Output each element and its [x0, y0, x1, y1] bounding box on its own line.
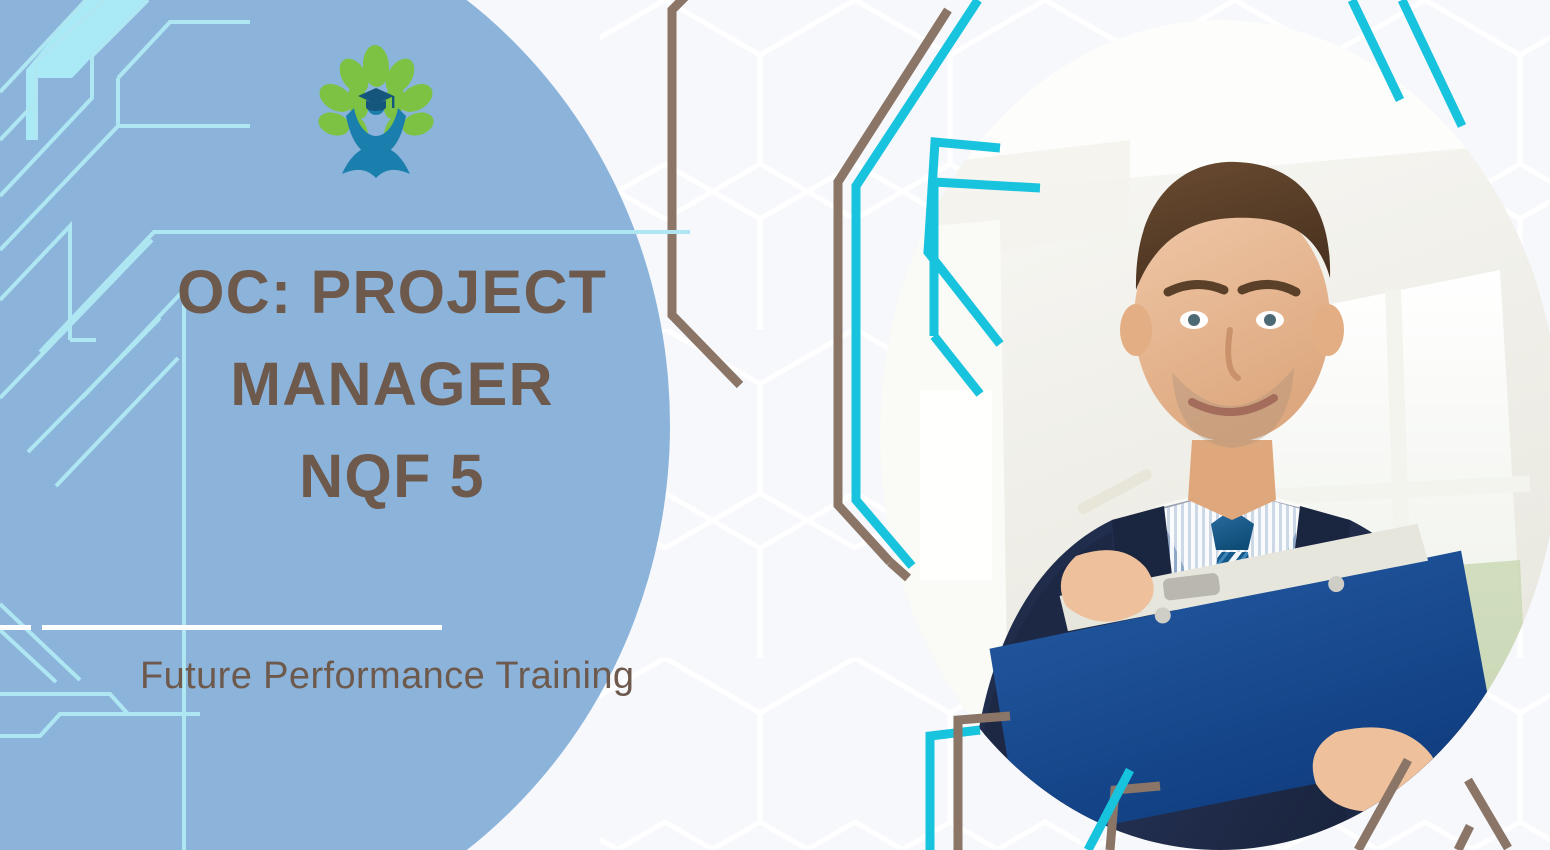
- portrait-photo: [880, 20, 1550, 850]
- page-title-line-2: MANAGER: [72, 338, 712, 430]
- course-banner: OC: PROJECT MANAGER NQF 5 Future Perform…: [0, 0, 1550, 850]
- businessman-illustration: [880, 20, 1550, 850]
- title-divider: [0, 625, 442, 630]
- divider-dash-short: [0, 625, 31, 630]
- tree-graduate-logo: [312, 42, 440, 178]
- divider-dash-long: [42, 625, 442, 630]
- page-title-line-3: NQF 5: [72, 430, 712, 522]
- title-block: OC: PROJECT MANAGER NQF 5: [72, 246, 712, 522]
- subtitle: Future Performance Training: [140, 655, 740, 698]
- page-title-line-1: OC: PROJECT: [72, 246, 712, 338]
